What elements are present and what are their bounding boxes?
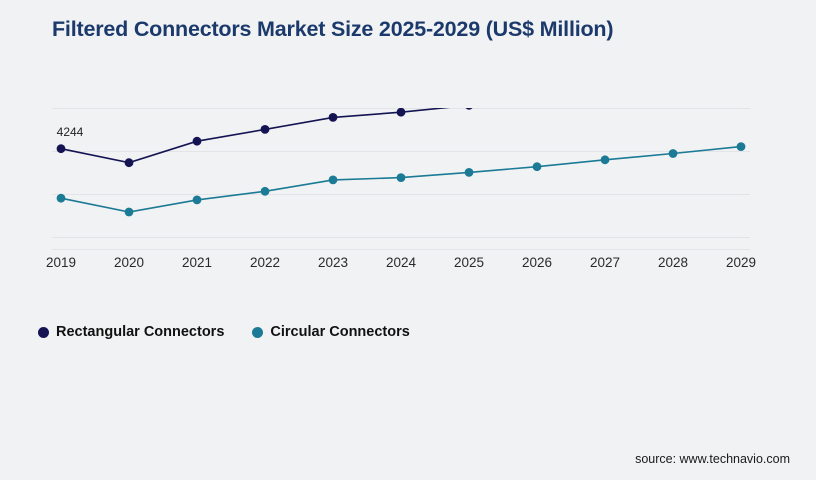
x-axis-tick: 2020 [114,255,144,270]
data-point[interactable] [397,173,406,182]
page-title: Filtered Connectors Market Size 2025-202… [52,17,613,42]
x-axis-tick: 2021 [182,255,212,270]
legend-label: Rectangular Connectors [56,324,224,340]
chart-plot-area: 4244 [52,108,750,250]
data-point[interactable] [465,108,474,110]
data-point[interactable] [601,155,610,164]
legend-label: Circular Connectors [270,324,409,340]
legend-marker-circle-icon [38,327,49,338]
data-point[interactable] [397,108,406,117]
data-point[interactable] [193,196,202,205]
data-point[interactable] [193,137,202,146]
data-point[interactable] [261,187,270,196]
legend-item-rectangular-connectors[interactable]: Rectangular Connectors [38,324,224,340]
data-point[interactable] [669,149,678,158]
data-point-label: 4244 [57,125,84,139]
data-point[interactable] [57,144,66,153]
legend-marker-circle-icon [252,327,263,338]
data-point[interactable] [737,142,746,151]
x-axis-tick: 2023 [318,255,348,270]
data-point[interactable] [465,168,474,177]
x-axis-tick: 2028 [658,255,688,270]
x-axis-tick: 2027 [590,255,620,270]
x-axis-tick-labels: 2019202020212022202320242025202620272028… [52,255,750,275]
x-axis-tick: 2019 [46,255,76,270]
source-attribution: source: www.technavio.com [635,452,790,466]
legend-item-circular-connectors[interactable]: Circular Connectors [252,324,409,340]
data-point[interactable] [57,194,66,203]
data-point[interactable] [329,176,338,185]
data-point[interactable] [125,158,134,167]
chart-series-layer [52,108,750,250]
data-point[interactable] [261,125,270,134]
x-axis-tick: 2024 [386,255,416,270]
data-point[interactable] [533,162,542,171]
data-point[interactable] [125,208,134,217]
x-axis-tick: 2026 [522,255,552,270]
data-point[interactable] [329,113,338,122]
x-axis-tick: 2022 [250,255,280,270]
x-axis-tick: 2025 [454,255,484,270]
x-axis-tick: 2029 [726,255,756,270]
chart-legend: Rectangular ConnectorsCircular Connector… [38,324,410,340]
